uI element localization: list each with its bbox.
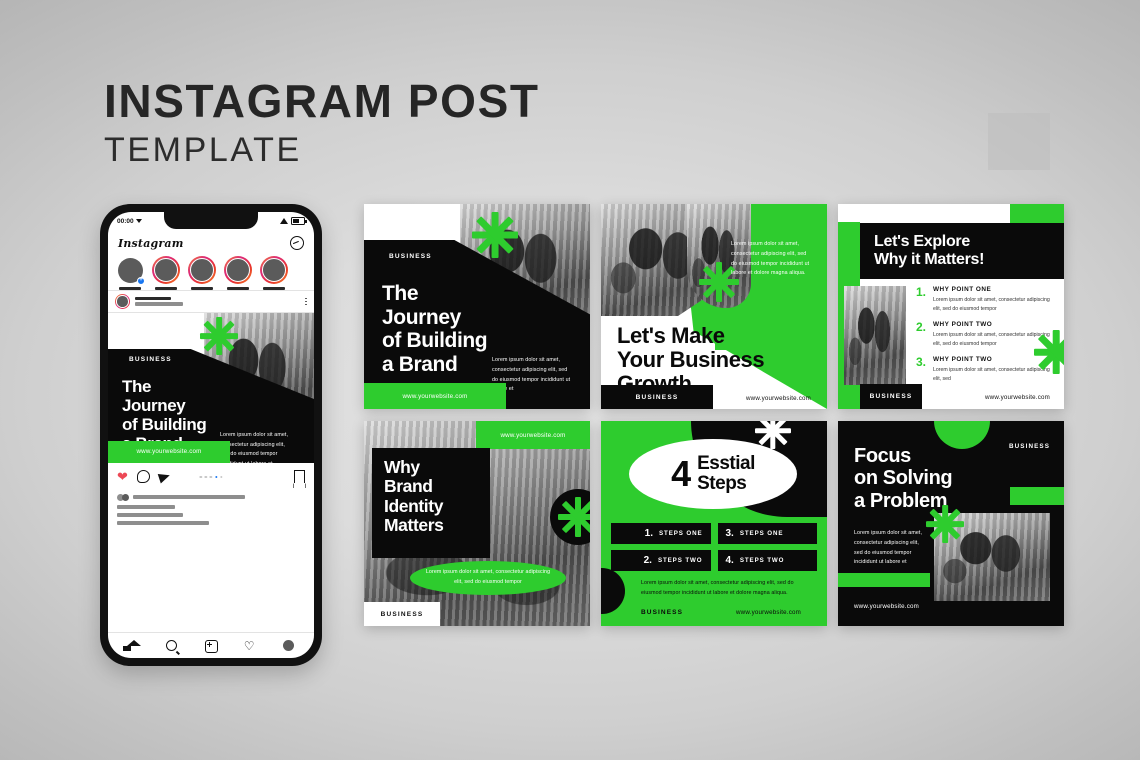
title-line: Let's Make	[617, 324, 764, 348]
card-body: Lorem ipsum dolor sit amet, consectetur …	[410, 561, 566, 595]
step-item: 3. STEPS ONE	[718, 523, 818, 544]
avatar[interactable]	[115, 294, 130, 309]
photo-workshop	[844, 286, 906, 385]
card-green-bar	[1010, 487, 1064, 505]
step-label: STEPS TWO	[658, 557, 703, 564]
location-arrow-icon	[136, 219, 142, 223]
title-line: of Building	[382, 329, 487, 353]
page-title: INSTAGRAM POST	[104, 78, 540, 126]
story-avatar[interactable]	[152, 256, 180, 284]
card-url[interactable]: www.yourwebsite.com	[746, 395, 811, 402]
card-body: Lorem ipsum dolor sit amet, consectetur …	[731, 240, 813, 279]
title-line: Identity	[384, 497, 490, 516]
card-url[interactable]: www.yourwebsite.com	[736, 609, 801, 616]
badge-business: BUSINESS	[364, 602, 440, 626]
title-line: Matters	[384, 516, 490, 535]
post-card-explore[interactable]: Let's Explore Why it Matters! 1. WHY POI…	[838, 204, 1064, 409]
card-title: Let's Explore Why it Matters!	[874, 233, 984, 269]
messenger-icon[interactable]	[290, 236, 304, 250]
heart-icon[interactable]: ❤	[117, 470, 128, 483]
step-item: 4. STEPS TWO	[718, 550, 818, 571]
post-card-journey[interactable]: BUSINESS The Journey of Building a Brand…	[364, 204, 590, 409]
story-avatar[interactable]	[260, 256, 288, 284]
step-number: 1.	[645, 528, 653, 539]
post-card-growth[interactable]: Lorem ipsum dolor sit amet, consectetur …	[601, 204, 827, 409]
phone-screen: 00:00 Instagram +	[108, 212, 314, 658]
badge-business: BUSINESS	[860, 384, 922, 409]
decorative-square	[988, 113, 1050, 170]
card-body: Lorem ipsum dolor sit amet, consectetur …	[854, 529, 924, 568]
card-title: The Journey of Building a Brand	[382, 282, 487, 376]
title-line: Esstial	[697, 454, 755, 474]
post-header	[108, 290, 314, 313]
activity-icon[interactable]: ♡	[244, 640, 256, 652]
home-icon[interactable]	[127, 640, 139, 652]
badge-business: BUSINESS	[601, 385, 713, 409]
title-line: Why	[384, 458, 490, 477]
title-line: Journey	[382, 306, 487, 330]
step-item: 2. STEPS TWO	[611, 550, 711, 571]
bottom-navbar[interactable]: ♡	[108, 632, 314, 658]
status-time: 00:00	[117, 218, 134, 225]
story-item[interactable]	[150, 256, 182, 290]
step-label: STEPS ONE	[659, 530, 703, 537]
step-label: STEPS TWO	[740, 557, 785, 564]
post-actions: ❤	[108, 463, 314, 491]
card-title: Focus on Solving a Problem	[854, 445, 952, 512]
badge-business: BUSINESS	[1009, 443, 1050, 450]
card-green-bar-left	[838, 573, 930, 587]
asterisk-icon	[472, 212, 518, 258]
add-post-icon[interactable]	[205, 640, 217, 652]
post-author-placeholder	[135, 297, 300, 306]
story-avatar[interactable]: +	[116, 256, 144, 284]
stories-row[interactable]: +	[108, 256, 314, 290]
phone-mockup: 00:00 Instagram +	[100, 204, 322, 666]
profile-avatar[interactable]	[283, 640, 295, 652]
post-card-identity[interactable]: www.yourwebsite.com Why Brand Identity M…	[364, 421, 590, 626]
point-text: Lorem ipsum dolor sit amet, consectetur …	[933, 296, 1056, 314]
battery-icon	[291, 217, 305, 225]
card-body: Lorem ipsum dolor sit amet, consectetur …	[641, 579, 799, 599]
point-number: 2.	[916, 321, 927, 349]
likes-avatars	[117, 494, 129, 501]
point-number: 3.	[916, 356, 927, 384]
card-black-circle	[601, 568, 625, 614]
comment-icon[interactable]	[137, 470, 150, 483]
story-item[interactable]: +	[114, 256, 146, 290]
story-avatar[interactable]	[224, 256, 252, 284]
story-item[interactable]	[258, 256, 290, 290]
story-item[interactable]	[222, 256, 254, 290]
instagram-logo: Instagram	[118, 237, 184, 250]
bookmark-icon[interactable]	[294, 470, 305, 483]
step-label: STEPS ONE	[740, 530, 784, 537]
asterisk-icon	[926, 505, 964, 543]
step-number: 3.	[726, 528, 734, 539]
step-item: 1. STEPS ONE	[611, 523, 711, 544]
title-line: Focus	[854, 445, 952, 467]
list-item: 1. WHY POINT ONE Lorem ipsum dolor sit a…	[916, 286, 1056, 314]
badge-business: BUSINESS	[641, 609, 683, 616]
post-cards-grid: BUSINESS The Journey of Building a Brand…	[364, 204, 1064, 626]
phone-notch	[164, 212, 258, 229]
story-item[interactable]	[186, 256, 218, 290]
post-image: BUSINESS The Journey of Building a Brand…	[108, 313, 314, 463]
search-icon[interactable]	[166, 640, 178, 652]
point-heading: WHY POINT TWO	[933, 321, 1056, 328]
card-url[interactable]: www.yourwebsite.com	[364, 383, 506, 409]
asterisk-icon	[200, 317, 238, 355]
point-number: 1.	[916, 286, 927, 314]
card-green-tab	[1010, 204, 1064, 223]
post-url: www.yourwebsite.com	[108, 441, 230, 463]
title-line: The	[382, 282, 487, 306]
step-number: 2.	[644, 555, 652, 566]
card-url[interactable]: www.yourwebsite.com	[854, 603, 919, 610]
carousel-pager	[199, 476, 222, 479]
post-caption	[108, 491, 314, 632]
title-line: Why it Matters!	[874, 251, 984, 269]
share-icon[interactable]	[158, 470, 172, 483]
asterisk-icon	[558, 497, 590, 537]
card-url[interactable]: www.yourwebsite.com	[476, 421, 590, 449]
post-card-focus[interactable]: BUSINESS Focus on Solving a Problem Lore…	[838, 421, 1064, 626]
card-title-oval: 4 Esstial Steps	[629, 439, 797, 509]
asterisk-icon	[1034, 330, 1064, 374]
more-options-icon[interactable]	[305, 298, 307, 306]
steps-grid: 1. STEPS ONE 3. STEPS ONE 2. STEPS TWO 4…	[611, 523, 817, 571]
post-card-steps[interactable]: 4 Esstial Steps 1. STEPS ONE 3. STEPS ON…	[601, 421, 827, 626]
title-line: Brand	[384, 477, 490, 496]
wifi-icon	[280, 218, 288, 224]
step-number: 4.	[726, 555, 734, 566]
card-title: Esstial Steps	[697, 454, 755, 494]
title-line: Let's Explore	[874, 233, 984, 251]
post-body: Lorem ipsum dolor sit amet, consectetur …	[220, 431, 294, 463]
page-title-block: INSTAGRAM POST TEMPLATE	[104, 78, 540, 168]
page-subtitle: TEMPLATE	[104, 132, 540, 168]
title-line: Steps	[697, 474, 755, 494]
badge-business: BUSINESS	[382, 250, 439, 263]
steps-number: 4	[671, 458, 689, 490]
title-line: a Brand	[382, 353, 487, 377]
title-line: on Solving	[854, 467, 952, 489]
poster-canvas: INSTAGRAM POST TEMPLATE 00:00 Instagram	[0, 0, 1140, 760]
card-url[interactable]: www.yourwebsite.com	[985, 394, 1050, 401]
badge-business: BUSINESS	[122, 353, 179, 366]
title-line: Your Business	[617, 348, 764, 372]
app-header: Instagram	[108, 230, 314, 256]
add-story-icon: +	[137, 277, 145, 285]
point-heading: WHY POINT ONE	[933, 286, 1056, 293]
card-header-bar: Let's Explore Why it Matters!	[860, 223, 1064, 279]
story-avatar[interactable]	[188, 256, 216, 284]
card-title: Why Brand Identity Matters	[372, 448, 490, 558]
